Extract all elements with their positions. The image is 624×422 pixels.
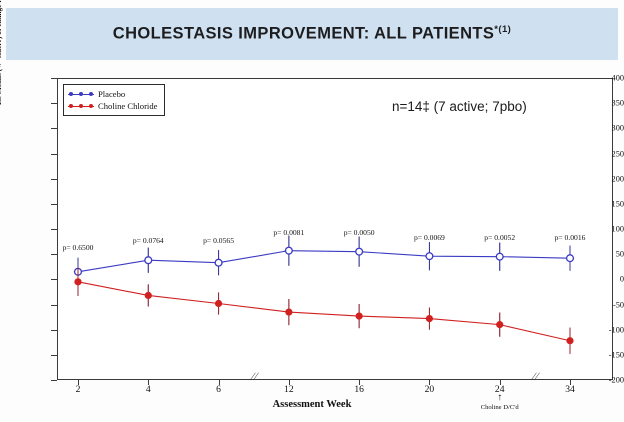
data-point-marker (145, 257, 152, 264)
data-point-marker (215, 259, 222, 266)
data-point-marker (497, 322, 503, 328)
series-placebo (74, 236, 574, 286)
discontinuation-annotation: Choline D/C'd (481, 404, 519, 411)
data-point-marker (145, 292, 151, 298)
data-point-marker (567, 255, 574, 262)
data-point-marker (356, 313, 362, 319)
data-point-marker (285, 247, 292, 254)
data-point-marker (567, 338, 573, 344)
x-axis-title: Assessment Week (0, 399, 624, 410)
chart-page: CHOLESTASIS IMPROVEMENT: ALL PATIENTS*(1… (0, 0, 624, 422)
data-point-marker (496, 253, 503, 260)
series-overlay (0, 0, 624, 422)
series-line (78, 282, 570, 341)
data-point-marker (426, 253, 433, 260)
data-point-marker (356, 248, 363, 255)
data-point-marker (426, 315, 432, 321)
series-choline-chloride (75, 268, 573, 354)
discontinuation-arrow-icon: ↑ (497, 393, 502, 403)
data-point-marker (215, 300, 221, 306)
data-point-marker (286, 309, 292, 315)
data-point-marker (75, 279, 81, 285)
